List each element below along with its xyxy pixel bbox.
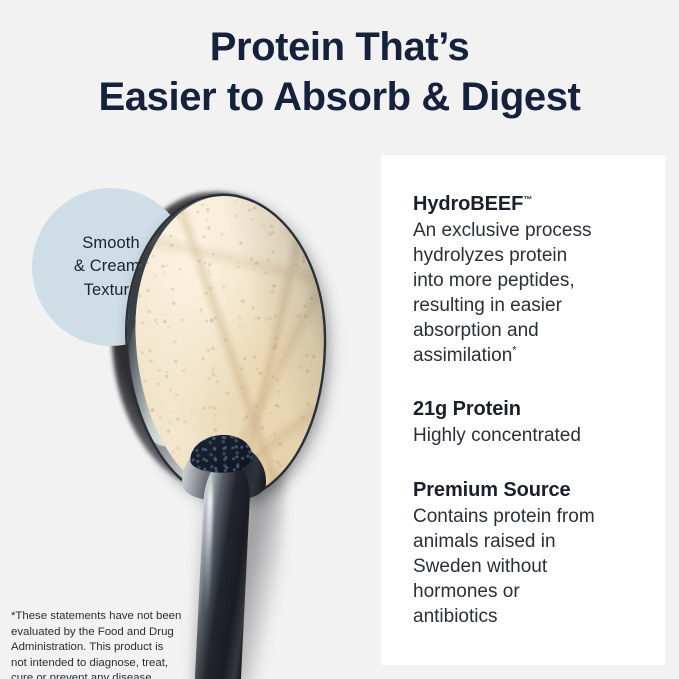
benefit-block-premium-source: Premium Source Contains protein from ani… [413,477,639,629]
fda-disclaimer: *These statements have not been evaluate… [11,609,223,679]
benefit-body: Contains protein from animals raised in … [413,504,639,629]
trademark-icon: ™ [523,194,532,204]
benefit-title-text: 21g Protein [413,398,521,420]
benefit-block-protein: 21g Protein Highly concentrated [413,396,639,448]
benefit-title: Premium Source [413,477,639,503]
benefit-block-hydrobeef: HydroBEEF™ An exclusive process hydrolyz… [413,191,639,368]
benefit-body: Highly concentrated [413,423,639,448]
headline-line-2: Easier to Absorb & Digest [0,74,679,120]
benefit-body: An exclusive process hydrolyzes protein … [413,218,639,368]
infographic-canvas: Protein That’s Easier to Absorb & Digest… [0,0,679,679]
benefit-title: 21g Protein [413,396,639,422]
product-photo: Smooth & Creamy Texture [0,130,380,679]
page-title: Protein That’s Easier to Absorb & Digest [0,24,679,121]
benefit-title-text: HydroBEEF [413,193,523,215]
footnote-marker-icon: * [512,345,516,357]
headline-line-1: Protein That’s [0,24,679,70]
benefit-title: HydroBEEF™ [413,191,639,217]
benefit-body-text: An exclusive process hydrolyzes protein … [413,220,591,366]
benefit-title-text: Premium Source [413,479,571,501]
benefit-body-text: Contains protein from animals raised in … [413,506,595,627]
benefits-panel: HydroBEEF™ An exclusive process hydrolyz… [381,155,665,665]
benefit-body-text: Highly concentrated [413,425,581,446]
